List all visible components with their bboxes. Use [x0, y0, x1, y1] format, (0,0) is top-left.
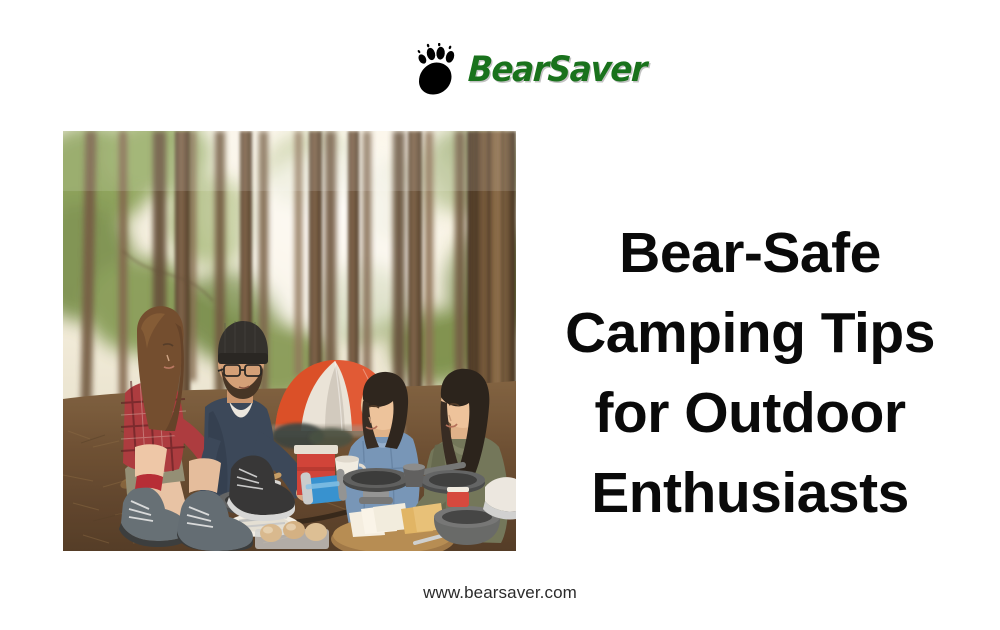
camping-photo: [63, 131, 516, 551]
footer-website-url[interactable]: www.bearsaver.com: [0, 583, 1000, 603]
brand-logo[interactable]: BearSaver: [416, 42, 659, 98]
brand-wordmark: BearSaver: [467, 53, 647, 88]
page-title: Bear-Safe Camping Tips for Outdoor Enthu…: [545, 214, 955, 533]
headline-line-4: Enthusiasts: [545, 454, 955, 534]
headline-line-1: Bear-Safe: [545, 214, 955, 294]
slide-canvas: BearSaver: [0, 0, 1000, 630]
headline-line-3: for Outdoor: [545, 374, 955, 454]
headline-line-2: Camping Tips: [545, 294, 955, 374]
bear-paw-icon: [416, 43, 462, 97]
